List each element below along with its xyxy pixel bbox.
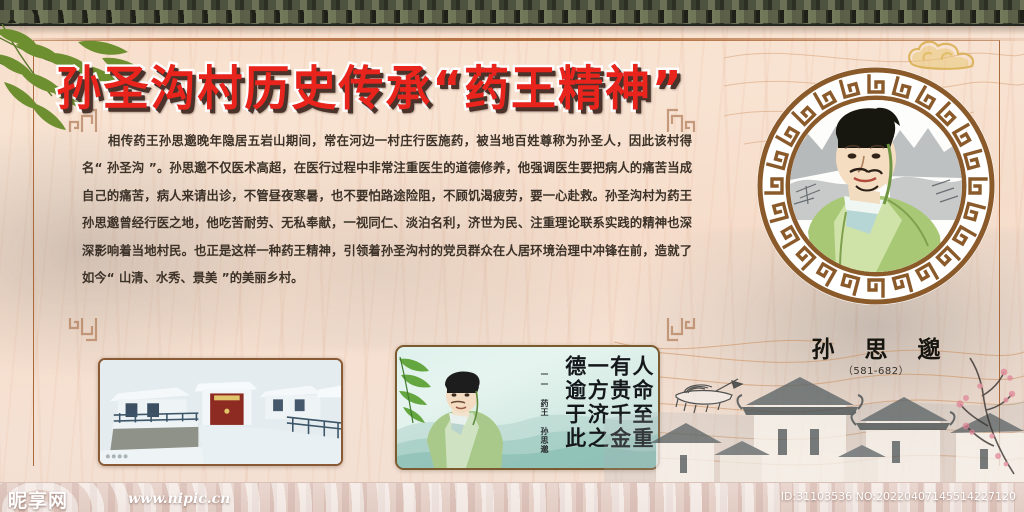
watermark-bar: 昵享网 www.nipic.cn ID:31103536 NO:20220407… <box>0 482 1024 512</box>
body-paragraph: 相传药王孙思邈晚年隐居五岩山期间，常在河边一村庄行医施药，被当地百姓尊称为孙圣人… <box>82 128 692 292</box>
sun-simiao-portrait <box>790 100 962 272</box>
nipic-url: www.nipic.cn <box>128 491 230 507</box>
nipic-logo: 昵享网 <box>8 486 68 512</box>
body-text: 相传药王孙思邈晚年隐居五岩山期间，常在河边一村庄行医施药，被当地百姓尊称为孙圣人… <box>82 128 692 292</box>
plum-branch-icon <box>922 356 1018 476</box>
image-id-text: ID:31103536 NO:20220407145514227120 <box>781 490 1016 503</box>
fret-corner-icon <box>68 316 100 342</box>
page-title: 孙圣沟村历史传承“药王精神” <box>0 50 740 119</box>
portrait-artwork <box>790 100 962 272</box>
poster-canvas: 孙圣沟村历史传承“药王精神” 相传药王孙思邈晚年隐居五岩山期间，常在河边一村庄行… <box>0 0 1024 512</box>
fret-corner-icon <box>664 316 696 342</box>
roof-tile-border <box>0 0 1024 26</box>
sun-simiao-illustration <box>421 369 505 470</box>
village-photo <box>98 358 343 466</box>
portrait-medallion <box>757 67 995 305</box>
roof-shadow <box>0 26 1024 35</box>
quote-attribution: —— 药王 孙思邈 <box>539 369 550 454</box>
quote-column: 德逾于此 <box>563 355 584 451</box>
photo-scene <box>100 360 341 466</box>
